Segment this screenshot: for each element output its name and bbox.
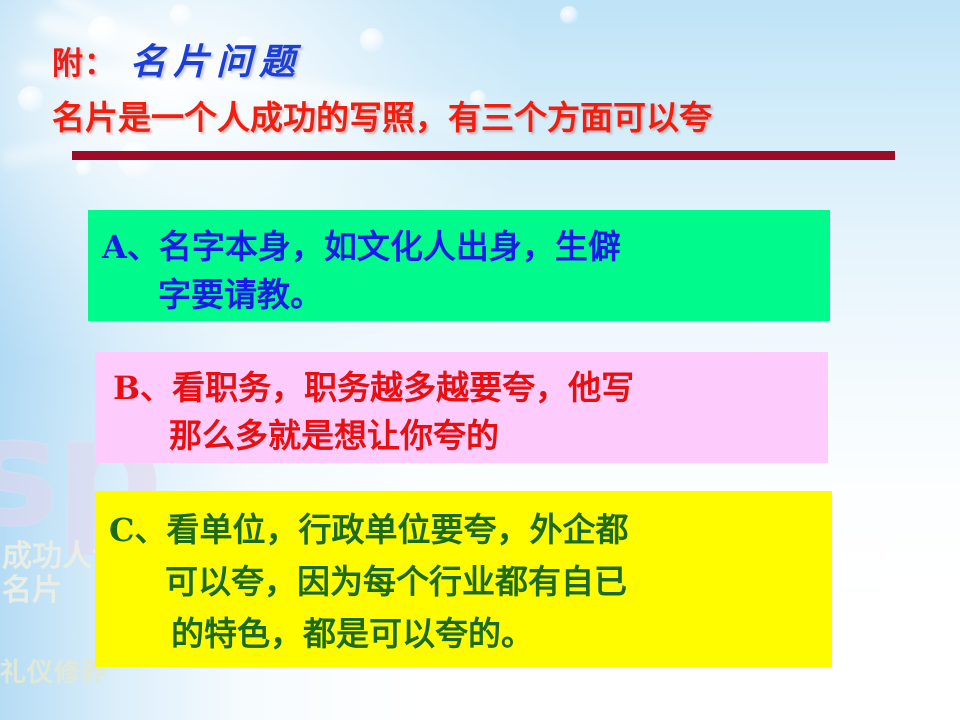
content-box-b-line1: 看职务，职务越多越要夸，他写	[172, 368, 634, 407]
content-box-c-line2: 可以夸，因为每个行业都有自已	[165, 562, 627, 601]
bokeh-10	[560, 6, 578, 24]
content-box-c-label: C、	[109, 511, 166, 549]
bokeh-2	[170, 4, 192, 26]
slide-canvas: sp 成功人士的 写照 名片 礼仪修养 附：名片问题 名片是一个人成功的写照，有…	[0, 0, 960, 720]
content-box-a-line2: 字要请教。	[158, 275, 323, 314]
title-prefix: 附：	[52, 46, 116, 82]
bokeh-6	[76, 160, 92, 176]
bokeh-8	[360, 28, 384, 52]
title-divider-rule	[72, 151, 895, 160]
content-box-b-label: B、	[113, 369, 172, 407]
content-box-c: C、看单位，行政单位要夸，外企都可以夸，因为每个行业都有自已的特色，都是可以夸的…	[95, 491, 832, 667]
slide-title: 附：名片问题	[52, 44, 302, 80]
slide-subtitle: 名片是一个人成功的写照，有三个方面可以夸	[52, 100, 712, 136]
content-box-a: A、名字本身，如文化人出身，生僻字要请教。	[88, 210, 830, 321]
content-box-c-line1: 看单位，行政单位要夸，外企都	[166, 510, 628, 549]
content-box-a-line1: 名字本身，如文化人出身，生僻	[159, 227, 621, 266]
content-box-a-label: A、	[102, 228, 159, 266]
content-box-c-line3: 的特色，都是可以夸的。	[171, 614, 534, 653]
bokeh-1	[88, 16, 118, 46]
content-box-b-line2: 那么多就是想让你夸的	[169, 416, 499, 455]
title-main: 名片问题	[130, 41, 302, 83]
bokeh-4	[18, 86, 44, 112]
bokeh-5	[118, 142, 154, 178]
content-box-b: B、看职务，职务越多越要夸，他写那么多就是想让你夸的	[95, 352, 828, 463]
